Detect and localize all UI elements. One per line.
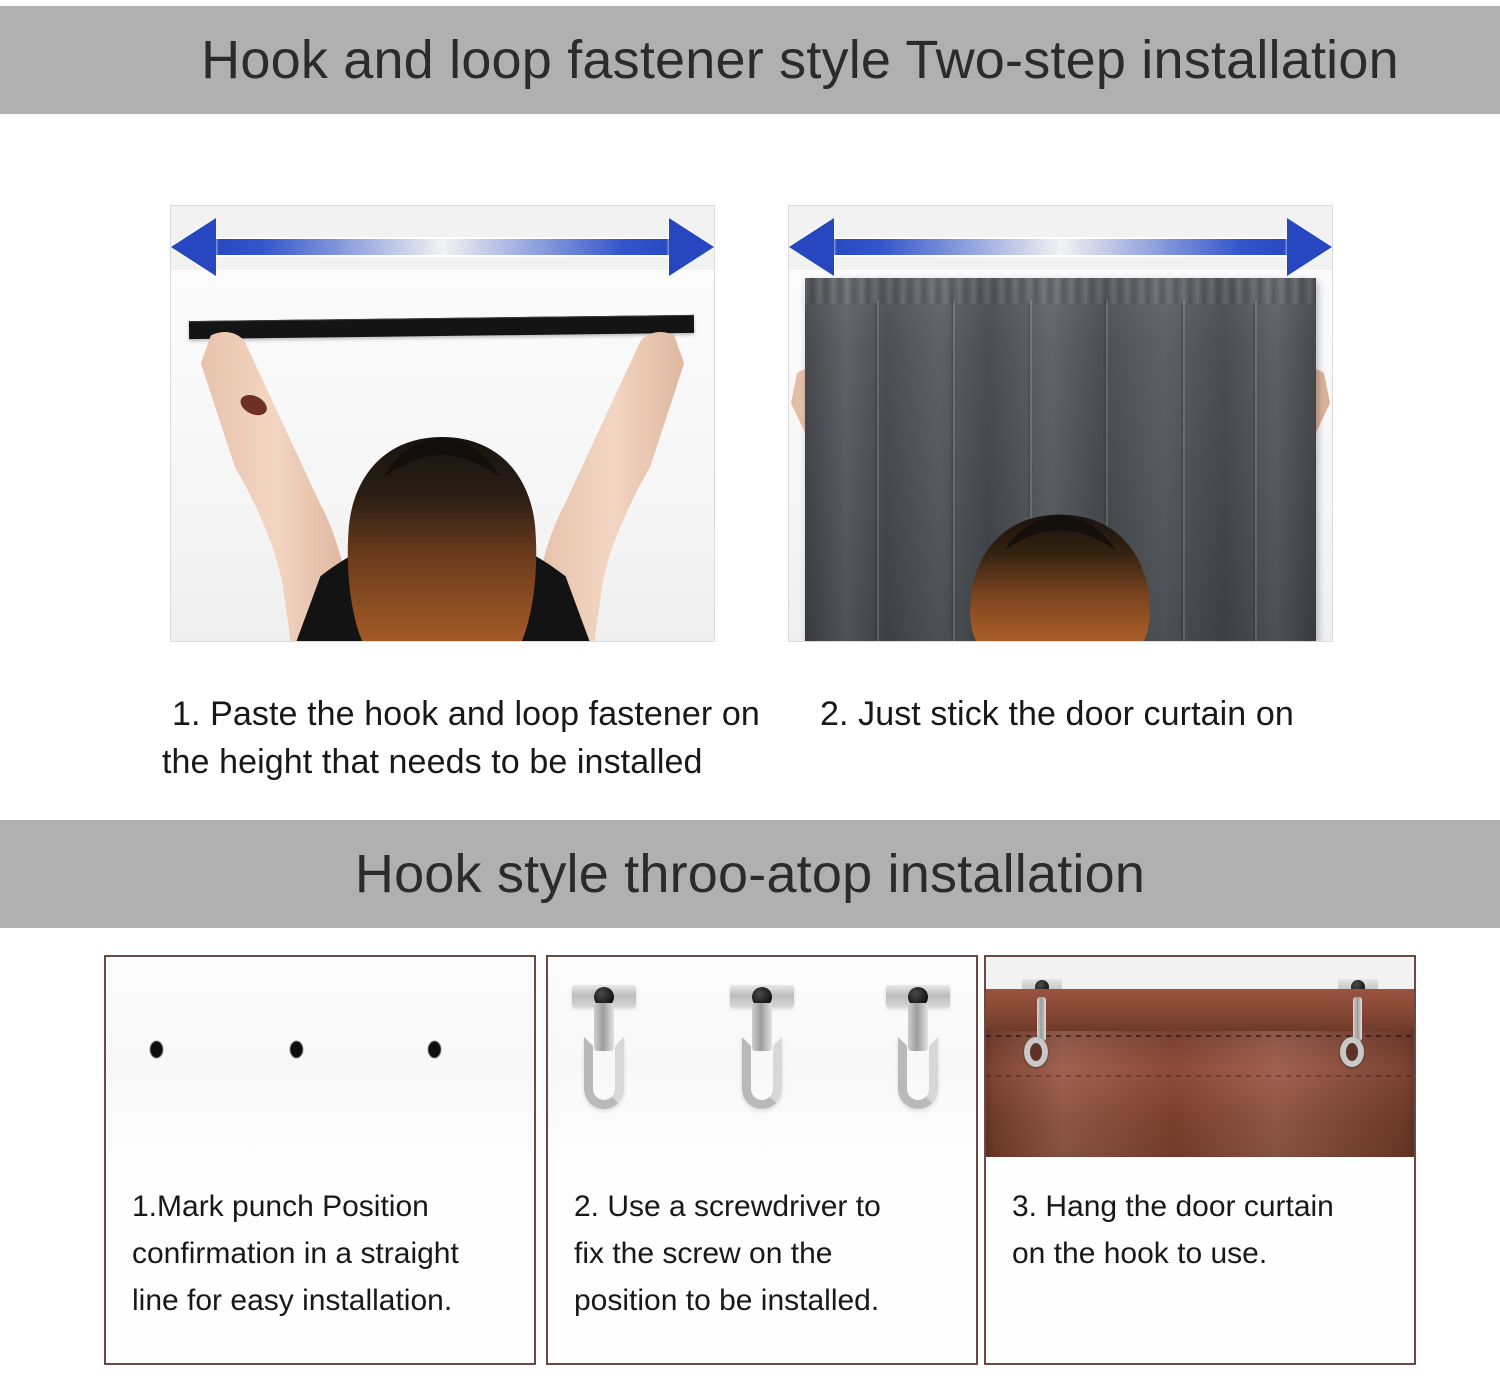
hook-curve [898,1037,938,1109]
caption-step-1-line-2: the height that needs to be installed [162,738,802,786]
bottom-step-card-2: 2. Use a screwdriver to fix the screw on… [546,955,978,1365]
caption-bottom-1-line-2: confirmation in a straight [132,1230,512,1277]
punch-mark-dot [150,1041,163,1058]
photo-step-2-stick-curtain [788,205,1333,642]
photo-leather-curtain-on-hooks [986,957,1414,1157]
curtain-grommet-icon [1340,1037,1364,1067]
caption-step-2-line-1: 2. Just stick the door curtain on [820,690,1440,738]
caption-bottom-2-line-1: 2. Use a screwdriver to [574,1183,954,1230]
hook-curve [742,1037,782,1109]
caption-step-2: 2. Just stick the door curtain on [820,690,1440,738]
curtain-stitch-line [986,1075,1414,1077]
caption-bottom-3-line-2: on the hook to use. [1012,1230,1392,1277]
banner-hook-and-loop-style: Hook and loop fastener style Two-step in… [0,6,1500,114]
caption-bottom-step-2: 2. Use a screwdriver to fix the screw on… [548,1157,976,1363]
caption-bottom-step-3: 3. Hang the door curtain on the hook to … [986,1157,1414,1363]
punch-mark-dot [290,1041,303,1058]
hook-curve [584,1037,624,1109]
punch-mark-dot [428,1041,441,1058]
caption-bottom-step-1: 1.Mark punch Position confirmation in a … [106,1157,534,1363]
banner-title-2: Hook style throo-atop installation [355,843,1145,905]
wall-hook-icon [886,985,950,1117]
caption-bottom-2-line-3: position to be installed. [574,1277,954,1324]
caption-step-1: 1. Paste the hook and loop fastener on t… [162,690,802,786]
wall-surface [106,957,534,1157]
banner-title-1: Hook and loop fastener style Two-step in… [101,29,1399,91]
photo-punch-marks [106,957,534,1157]
caption-step-1-line-1: 1. Paste the hook and loop fastener on [162,690,802,738]
curtain-rolled-top-edge [986,989,1414,1031]
bottom-step-card-3: 3. Hang the door curtain on the hook to … [984,955,1416,1365]
woman-head-illustration [789,206,1332,641]
caption-bottom-3-line-1: 3. Hang the door curtain [1012,1183,1392,1230]
caption-bottom-1-line-1: 1.Mark punch Position [132,1183,512,1230]
wall-hook-icon [730,985,794,1117]
brown-leather-curtain [986,989,1414,1157]
hook-stem [1037,997,1046,1041]
infographic-page: Hook and loop fastener style Two-step in… [0,0,1500,1380]
wall-hook-icon [572,985,636,1117]
banner-hook-style: Hook style throo-atop installation [0,820,1500,928]
hook-stem [1353,997,1362,1041]
photo-hooks-screwed-to-wall [548,957,976,1157]
woman-figure-illustration [171,206,714,641]
photo-step-1-paste-fastener [170,205,715,642]
caption-bottom-1-line-3: line for easy installation. [132,1277,512,1324]
caption-bottom-2-line-2: fix the screw on the [574,1230,954,1277]
bottom-step-card-1: 1.Mark punch Position confirmation in a … [104,955,536,1365]
curtain-grommet-icon [1024,1037,1048,1067]
